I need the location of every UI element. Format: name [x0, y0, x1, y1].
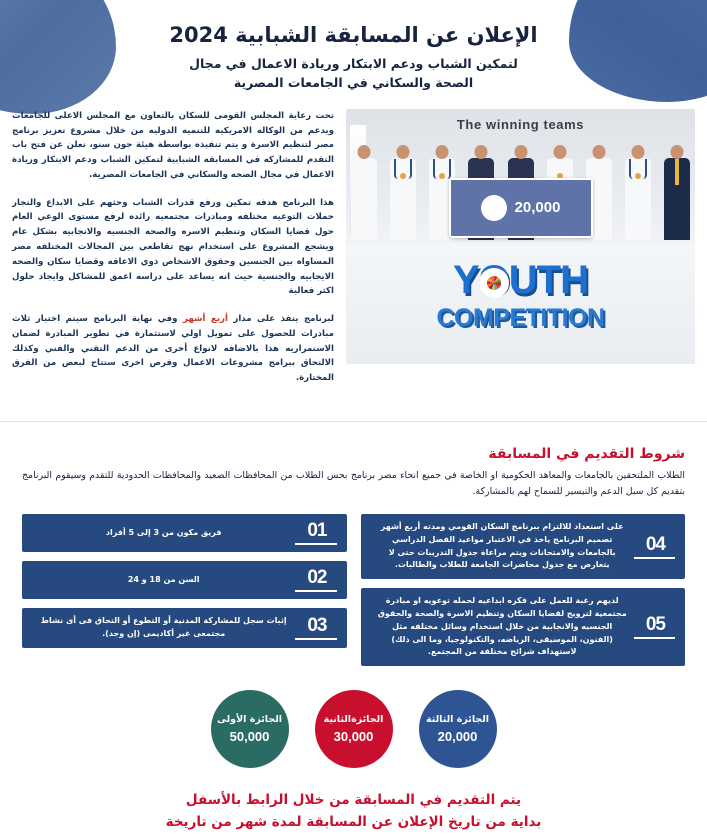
- youth-logo-text: YOUTH: [346, 262, 695, 299]
- person-figure: [350, 139, 378, 244]
- prize-third: الجائزة الثالثة 20,000: [419, 690, 497, 768]
- prize-cheque: 20,000: [449, 178, 593, 238]
- condition-number: 05: [634, 615, 675, 639]
- footer-line-2: بداية من تاريخ الإعلان عن المسابقة لمدة …: [40, 812, 667, 834]
- condition-item-02: 02 السن من 18 و 24: [22, 561, 347, 599]
- intro-paragraph-3: لبرنامج ينفذ على مدار أربع أشهر وفي نهاي…: [12, 312, 334, 386]
- header-section: الإعلان عن المسابقة الشبابية 2024 لتمكين…: [0, 0, 707, 97]
- condition-number: 04: [634, 535, 675, 559]
- condition-text: إثبات سجل للمشاركة المدنية أو التطوع أو …: [32, 615, 295, 641]
- condition-item-03: 03 إثبات سجل للمشاركة المدنية أو التطوع …: [22, 608, 347, 648]
- condition-number: 03: [295, 616, 336, 640]
- condition-text: فريق مكون من 3 إلى 5 أفراد: [32, 527, 295, 540]
- photo-lower-half: YOUTH COMPETITION: [346, 244, 695, 364]
- condition-text: لديهم رغبة للعمل على فكره ابداعيه لحمله …: [371, 595, 634, 659]
- prize-value: 50,000: [230, 729, 270, 744]
- title-block: الإعلان عن المسابقة الشبابية 2024 لتمكين…: [0, 0, 707, 97]
- person-figure: [624, 139, 652, 244]
- page-subtitle-line-2: الصحة والسكاني في الجامعات المصرية: [60, 74, 647, 93]
- cheque-amount: 20,000: [515, 199, 561, 216]
- condition-item-01: 01 فريق مكون من 3 إلى 5 أفراد: [22, 514, 347, 552]
- photo-column: The winning teams: [346, 109, 695, 364]
- duration-highlight: أربع أشهر: [183, 314, 228, 324]
- photo-upper-half: The winning teams: [346, 109, 695, 244]
- prize-value: 30,000: [334, 729, 374, 744]
- sdg-wheel-icon: [479, 268, 509, 298]
- prize-label: الجائزة الثالثة: [426, 714, 489, 725]
- paragraph-3-post: وفي نهاية البرنامج سيتم اختيار ثلاث مباد…: [12, 314, 334, 383]
- person-figure: [389, 139, 417, 244]
- conditions-title: شروط التقديم في المسابقة: [22, 446, 685, 462]
- competition-logo-text: COMPETITION: [346, 304, 695, 333]
- intro-paragraph-1: تحت رعاية المجلس القومى للسكان بالتعاون …: [12, 109, 334, 183]
- prizes-row: الجائزة الثالثة 20,000 الجائزةالثانية 30…: [0, 690, 707, 768]
- condition-number: 02: [295, 568, 336, 592]
- paragraph-3-pre: لبرنامج ينفذ على مدار: [228, 314, 334, 324]
- conditions-section: شروط التقديم في المسابقة الطلاب الملتحقي…: [0, 422, 707, 666]
- cheque-seal-icon: [481, 195, 507, 221]
- prize-label: الجائزةالثانية: [324, 714, 384, 725]
- photo-banner-text: The winning teams: [346, 117, 695, 132]
- condition-text: على استعداد للالتزام ببرنامج السكان القو…: [371, 521, 634, 572]
- page-title: الإعلان عن المسابقة الشبابية 2024: [60, 22, 647, 48]
- footer-section: يتم التقديم في المسابقة من خلال الرابط ب…: [0, 790, 707, 835]
- winning-teams-photo: The winning teams: [346, 109, 695, 364]
- prize-second: الجائزةالثانية 30,000: [315, 690, 393, 768]
- page-subtitle-line-1: لتمكين الشباب ودعم الابتكار وريادة الاعم…: [60, 55, 647, 74]
- prize-first: الجائزة الأولى 50,000: [211, 690, 289, 768]
- conditions-column-right: 01 فريق مكون من 3 إلى 5 أفراد 02 السن من…: [22, 514, 347, 648]
- condition-number: 01: [295, 521, 336, 545]
- intro-paragraph-2: هذا البرنامج هدفه تمكين ورفع قدرات الشبا…: [12, 196, 334, 299]
- condition-item-04: 04 على استعداد للالتزام ببرنامج السكان ا…: [361, 514, 686, 579]
- conditions-column-left: 04 على استعداد للالتزام ببرنامج السكان ا…: [361, 514, 686, 666]
- prize-value: 20,000: [438, 729, 478, 744]
- intro-content: The winning teams: [0, 97, 707, 399]
- conditions-boxes: 01 فريق مكون من 3 إلى 5 أفراد 02 السن من…: [22, 514, 685, 666]
- intro-text-column: تحت رعاية المجلس القومى للسكان بالتعاون …: [12, 109, 334, 399]
- person-figure: [663, 139, 691, 244]
- prize-label: الجائزة الأولى: [217, 714, 282, 725]
- footer-line-1: يتم التقديم في المسابقة من خلال الرابط ب…: [40, 790, 667, 812]
- poster-page: الإعلان عن المسابقة الشبابية 2024 لتمكين…: [0, 0, 707, 835]
- condition-text: السن من 18 و 24: [32, 574, 295, 587]
- condition-item-05: 05 لديهم رغبة للعمل على فكره ابداعيه لحم…: [361, 588, 686, 666]
- conditions-description: الطلاب الملتحقين بالجامعات والمعاهد الحك…: [22, 468, 685, 500]
